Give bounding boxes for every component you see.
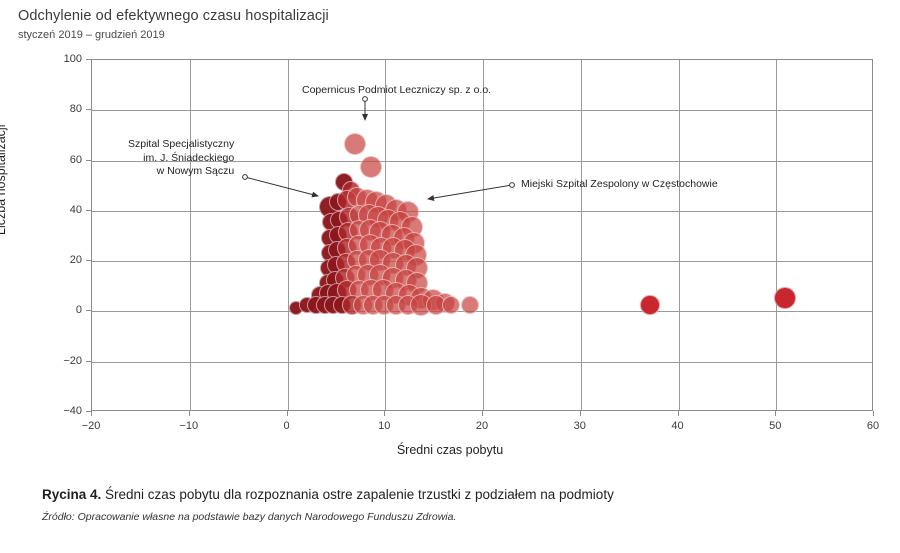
x-tick-mark bbox=[678, 411, 679, 416]
x-tick-label: 0 bbox=[257, 420, 317, 432]
scatter-bubble-layer bbox=[91, 59, 873, 411]
y-tick-label: 0 bbox=[22, 304, 82, 316]
y-tick-label: −20 bbox=[22, 355, 82, 367]
x-tick-label: −20 bbox=[61, 420, 121, 432]
annotation-line: Szpital Specjalistyczny bbox=[128, 138, 234, 152]
scatter-bubble bbox=[442, 296, 460, 314]
x-tick-label: 20 bbox=[452, 420, 512, 432]
annotation-line: w Nowym Sączu bbox=[128, 165, 234, 179]
annotation-line: im. J. Śniadeckiego bbox=[128, 152, 234, 166]
scatter-bubble bbox=[344, 133, 366, 155]
plot-wrapper: Liczba hospitalizacji Średni czas pobytu… bbox=[0, 0, 900, 470]
x-tick-label: 50 bbox=[745, 420, 805, 432]
scatter-bubble bbox=[774, 287, 796, 309]
x-tick-mark bbox=[91, 411, 92, 416]
x-tick-label: 10 bbox=[354, 420, 414, 432]
y-axis-title: Liczba hospitalizacji bbox=[0, 125, 8, 235]
annotation-nowy-sacz-label: Szpital Specjalistycznyim. J. Śniadeckie… bbox=[128, 138, 234, 179]
x-tick-mark bbox=[189, 411, 190, 416]
y-tick-label: −40 bbox=[22, 405, 82, 417]
x-tick-mark bbox=[873, 411, 874, 416]
scatter-bubble bbox=[640, 295, 660, 315]
y-tick-label: 80 bbox=[22, 103, 82, 115]
scatter-bubble bbox=[360, 156, 382, 178]
figure-caption-text: Średni czas pobytu dla rozpoznania ostre… bbox=[101, 487, 614, 502]
scatter-bubble bbox=[461, 296, 479, 314]
annotation-czestochowa-label: Miejski Szpital Zespolony w Częstochowie bbox=[521, 178, 718, 192]
y-tick-label: 100 bbox=[22, 53, 82, 65]
x-tick-label: −10 bbox=[159, 420, 219, 432]
y-tick-label: 40 bbox=[22, 204, 82, 216]
figure-source: Źródło: Opracowanie własne na podstawie … bbox=[42, 511, 872, 523]
figure-caption: Rycina 4. Średni czas pobytu dla rozpozn… bbox=[42, 487, 872, 502]
y-tick-label: 20 bbox=[22, 254, 82, 266]
x-tick-mark bbox=[384, 411, 385, 416]
x-tick-label: 30 bbox=[550, 420, 610, 432]
figure-container: Odchylenie od efektywnego czasu hospital… bbox=[0, 0, 900, 553]
x-tick-mark bbox=[580, 411, 581, 416]
x-axis-title: Średni czas pobytu bbox=[0, 443, 900, 457]
x-tick-label: 60 bbox=[843, 420, 900, 432]
figure-number: Rycina 4. bbox=[42, 487, 101, 502]
x-tick-mark bbox=[287, 411, 288, 416]
x-tick-mark bbox=[482, 411, 483, 416]
x-tick-mark bbox=[775, 411, 776, 416]
x-tick-label: 40 bbox=[648, 420, 708, 432]
y-tick-label: 60 bbox=[22, 154, 82, 166]
annotation-copernicus-label: Copernicus Podmiot Leczniczy sp. z o.o. bbox=[302, 84, 491, 98]
